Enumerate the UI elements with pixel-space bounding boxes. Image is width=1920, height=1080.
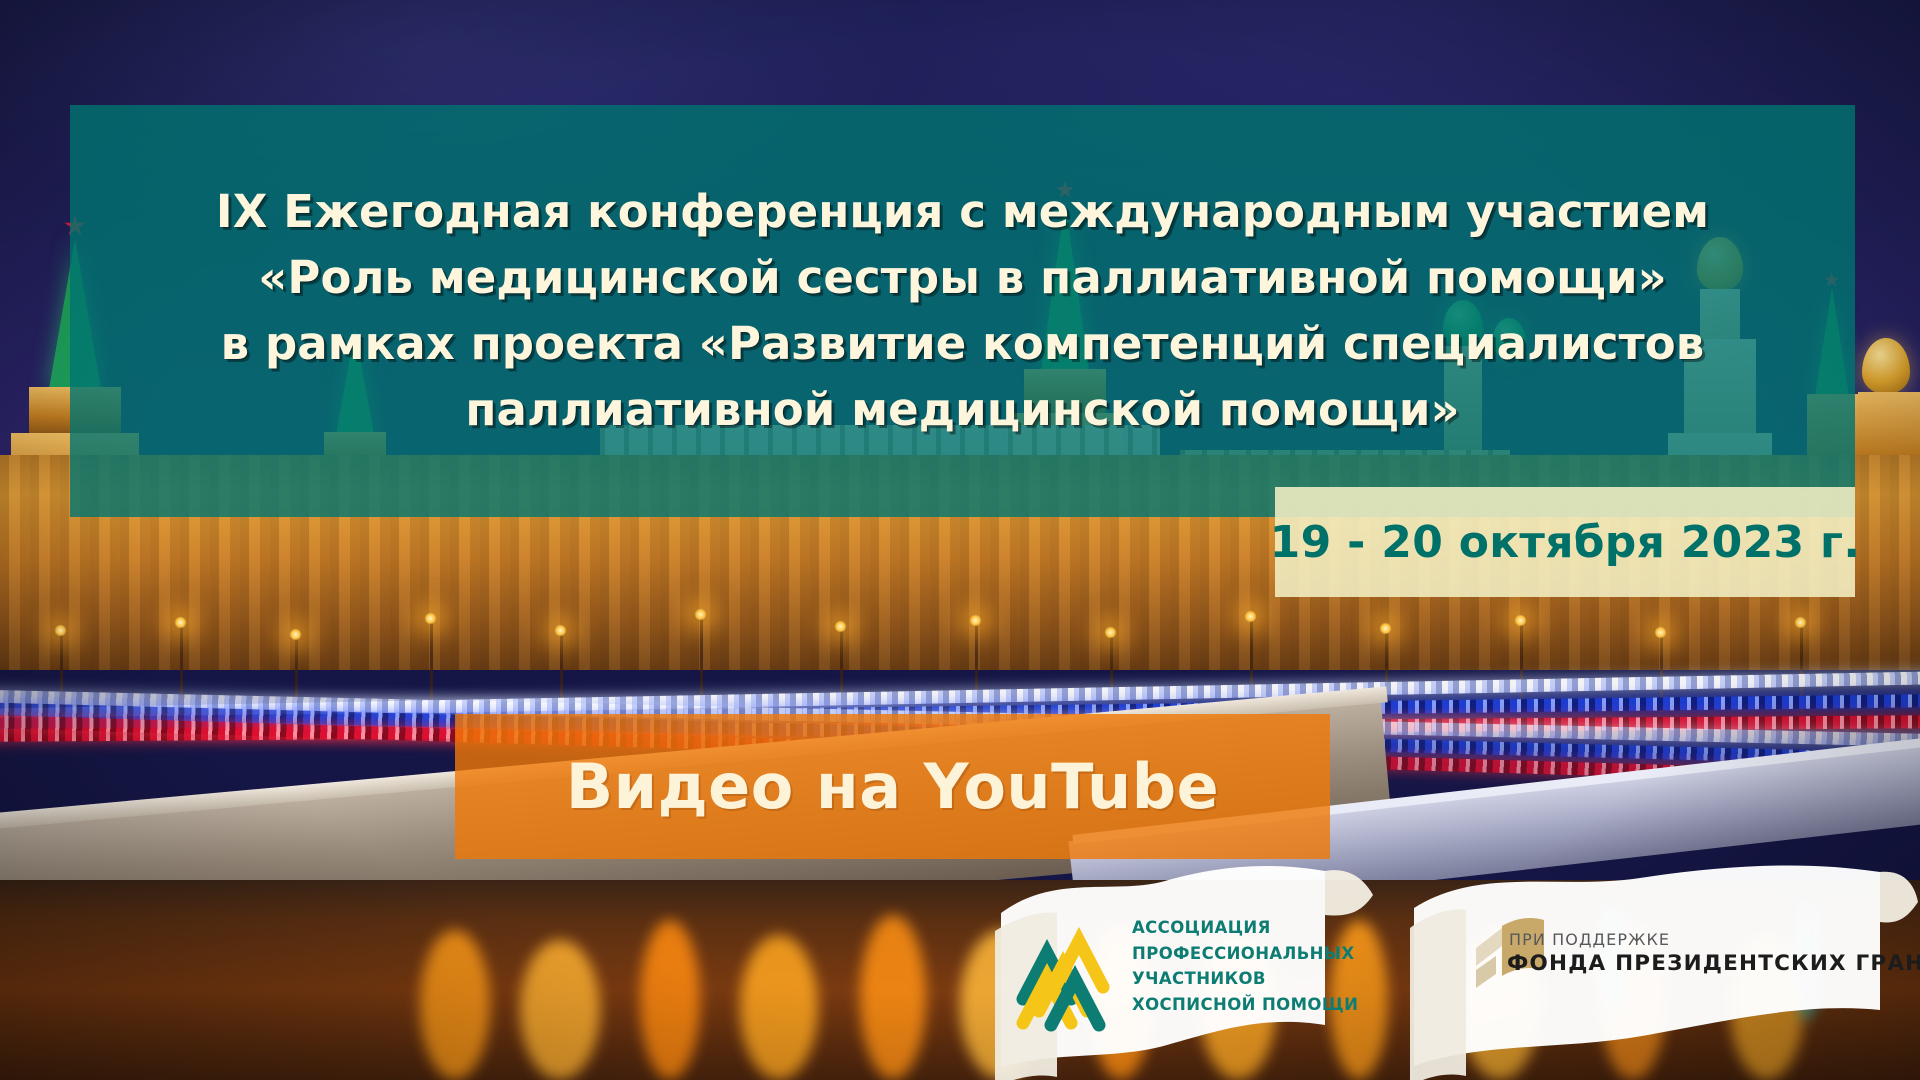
association-line-2: ПРОФЕССИОНАЛЬНЫХ: [1132, 941, 1382, 967]
title-line-2: «Роль медицинской сестры в паллиативной …: [258, 246, 1667, 310]
event-date-badge: 19 - 20 октября 2023 г.: [1275, 487, 1855, 597]
association-line-1: АССОЦИАЦИЯ: [1132, 915, 1382, 941]
video-on-youtube-button[interactable]: Видео на YouTube: [455, 714, 1330, 859]
title-line-3: в рамках проекта «Развитие компетенций с…: [221, 312, 1705, 376]
title-line-4: паллиативной медицинской помощи»: [465, 378, 1459, 442]
video-on-youtube-label: Видео на YouTube: [566, 750, 1219, 823]
fund-support-prefix: ПРИ ПОДДЕРЖКЕ: [1509, 930, 1670, 949]
association-line-3: УЧАСТНИКОВ: [1132, 966, 1382, 992]
poster-canvas: IX Ежегодная конференция с международным…: [0, 0, 1920, 1080]
fund-name: ФОНДА ПРЕЗИДЕНТСКИХ ГРАНТОВ: [1507, 951, 1920, 976]
conference-title: IX Ежегодная конференция с международным…: [70, 105, 1855, 517]
association-line-4: ХОСПИСНОЙ ПОМОЩИ: [1132, 992, 1382, 1018]
association-logo-text: АССОЦИАЦИЯ ПРОФЕССИОНАЛЬНЫХ УЧАСТНИКОВ Х…: [1132, 915, 1382, 1017]
title-line-1: IX Ежегодная конференция с международным…: [216, 180, 1709, 244]
event-date-text: 19 - 20 октября 2023 г.: [1270, 517, 1861, 568]
association-chevron-icon: [1005, 927, 1115, 1037]
